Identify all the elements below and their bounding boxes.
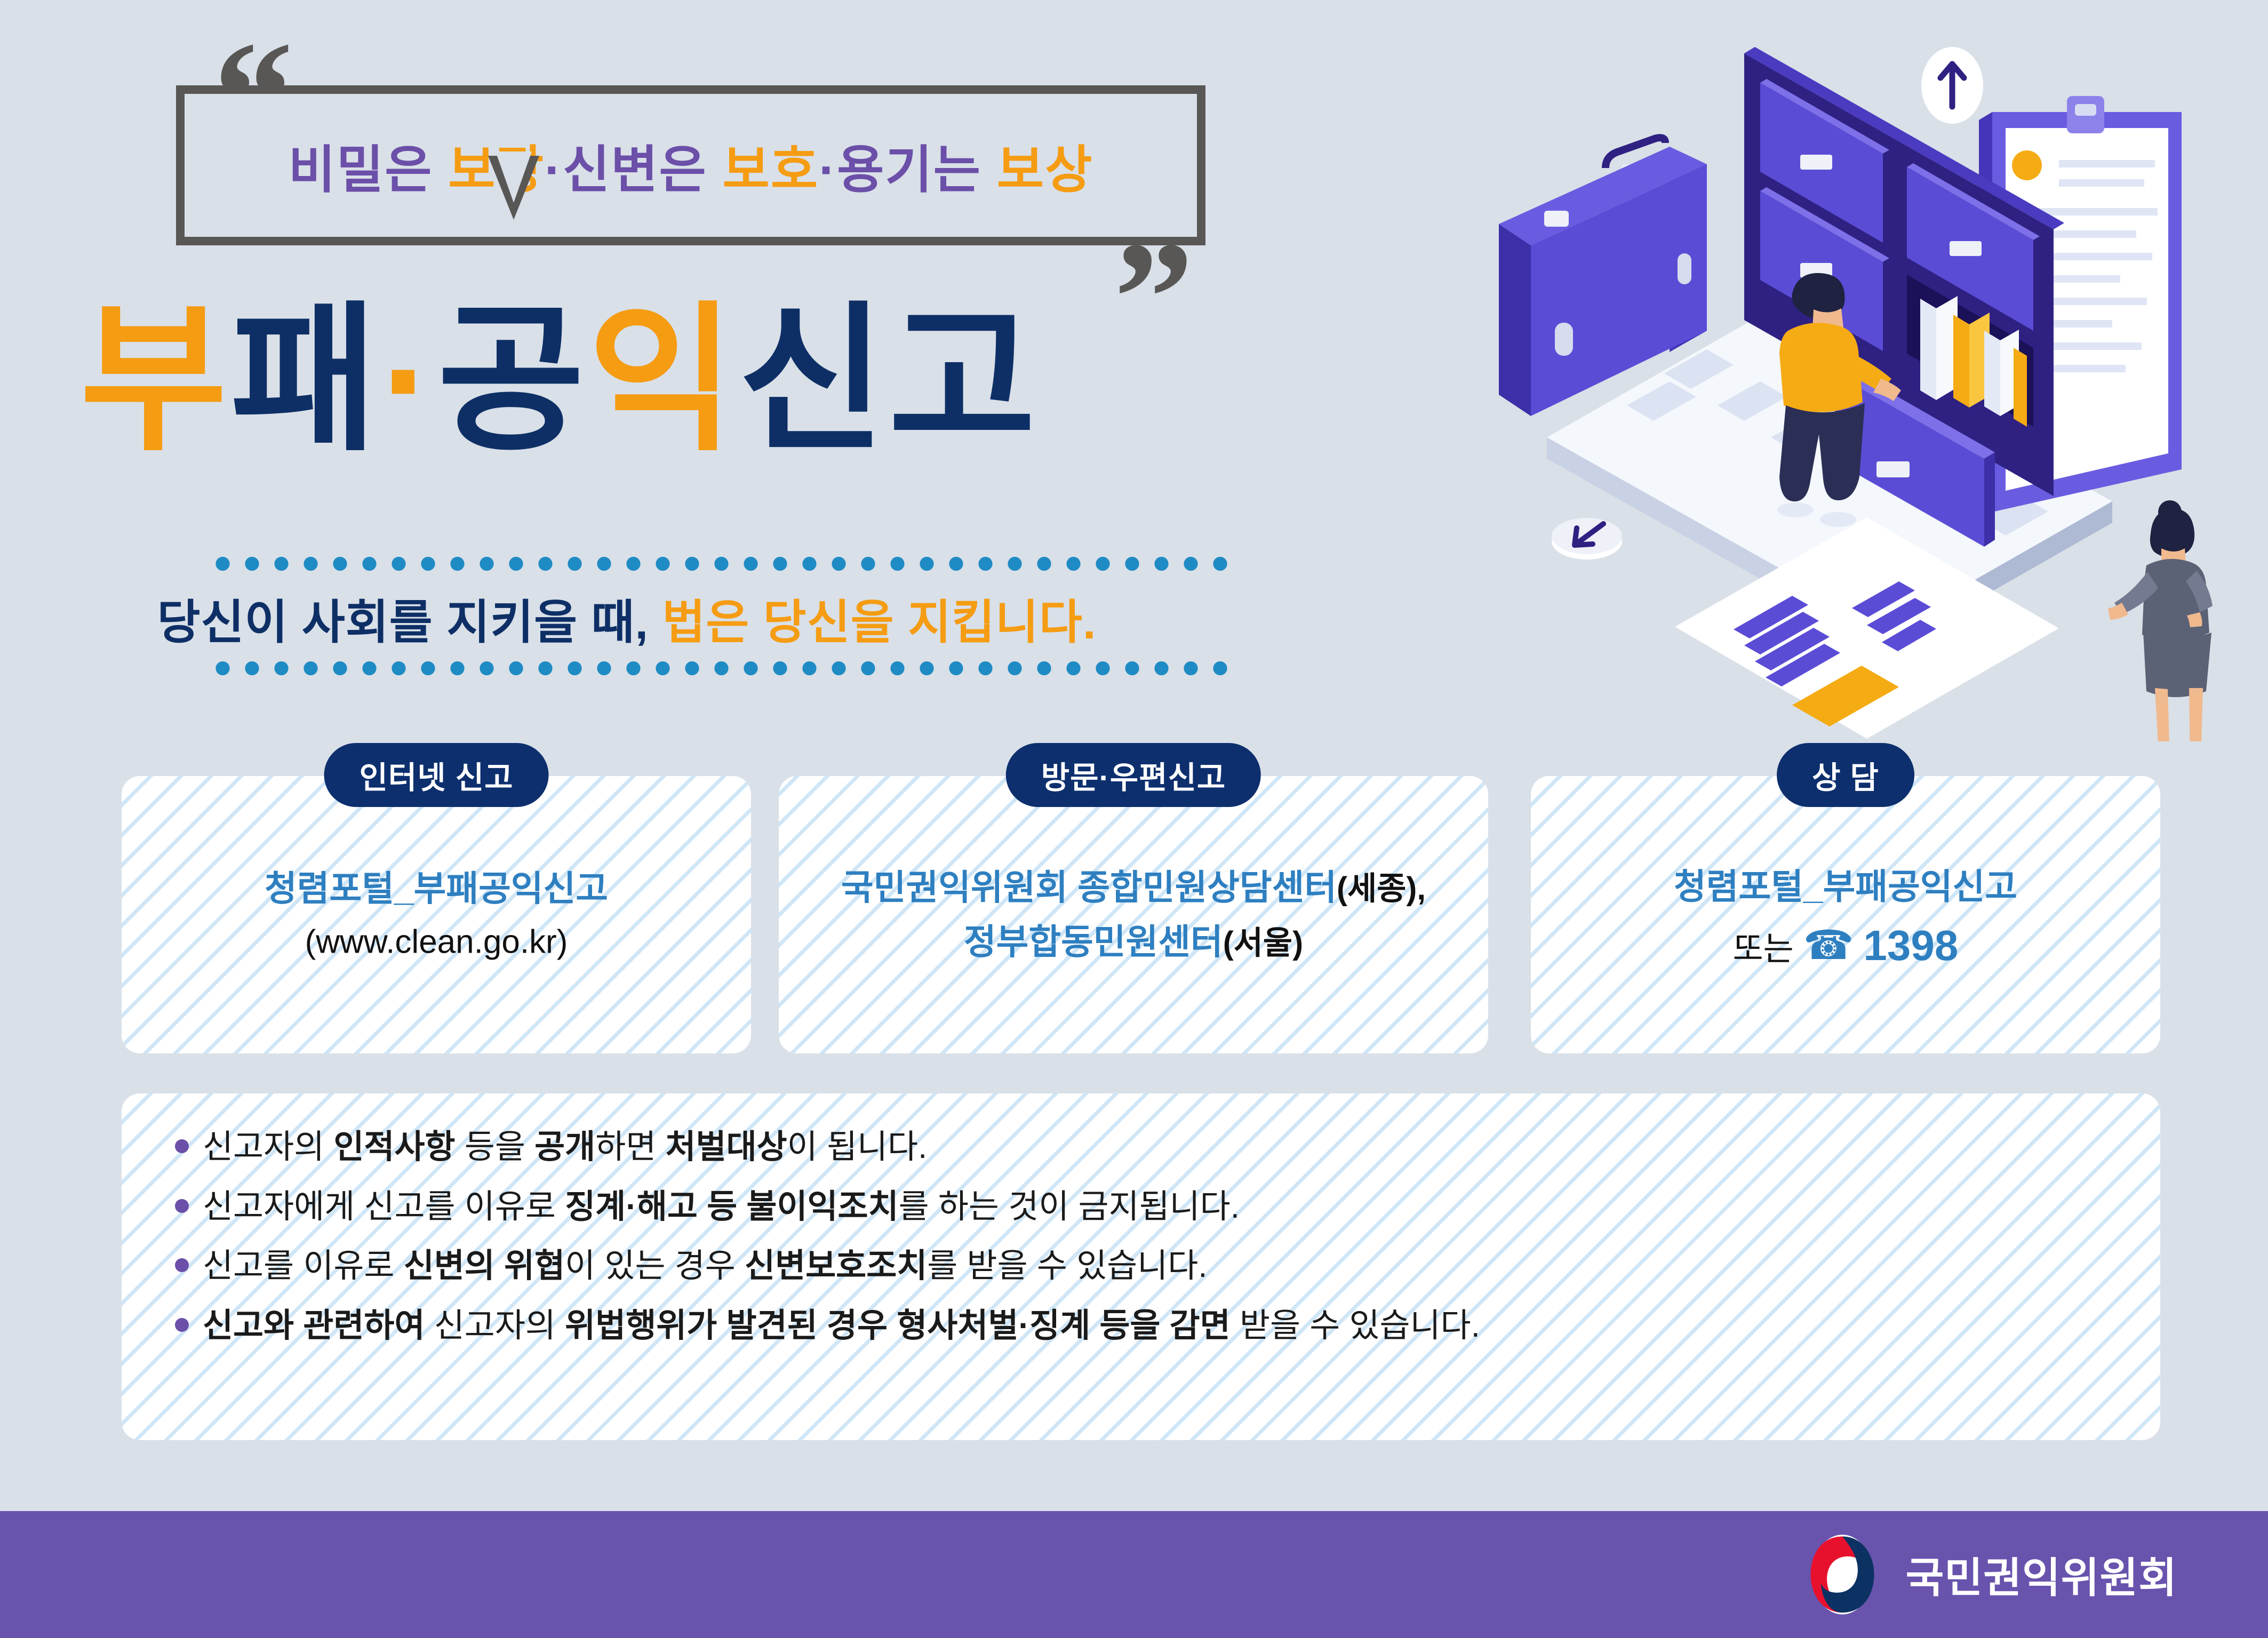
title-segment-3: 공 xyxy=(437,290,588,469)
quote-callout-box: “ ” 비밀은 보장·신변은 보호·용기는 보상 xyxy=(176,85,1205,245)
card-visit-line1-paren: (세종), xyxy=(1337,871,1426,907)
card-visit-mail-report[interactable]: 방문·우편신고 국민권익위원회 종합민원상담센터(세종), 정부합동민원센터(서… xyxy=(779,776,1488,1053)
card-consult-line1: 청렴포털_부패공익신고 xyxy=(1544,859,2147,914)
footer-bar: 국민권익위원회 xyxy=(0,1511,2268,1638)
page-subtitle: 당신이 사회를 지키을 때, 법은 당신을 지킵니다. xyxy=(0,585,1253,652)
notice-text: 신고자에게 신고를 이유로 징계·해고 등 불이익조치를 하는 것이 금지됩니다… xyxy=(203,1184,1240,1230)
card-internet-report[interactable]: 인터넷 신고 청렴포털_부패공익신고 (www.clean.go.kr) xyxy=(122,776,751,1053)
quote-segment-7: 보상 xyxy=(997,142,1093,199)
quote-slogan-text: 비밀은 보장·신변은 보호·용기는 보상 xyxy=(176,129,1205,203)
arrow-down-left-badge-icon xyxy=(1552,518,1622,560)
card-body-internet: 청렴포털_부패공익신고 (www.clean.go.kr) xyxy=(122,861,751,968)
quote-segment-2: · xyxy=(545,142,563,199)
card-consult-phone-number[interactable]: 1398 xyxy=(1863,921,1958,970)
card-consult-phone-row[interactable]: 또는 ☎ 1398 xyxy=(1544,921,2147,970)
telephone-icon: ☎ xyxy=(1803,925,1854,966)
bullet-dot-icon xyxy=(175,1258,189,1272)
card-internet-url[interactable]: (www.clean.go.kr) xyxy=(134,916,738,969)
notice-item: 신고자에게 신고를 이유로 징계·해고 등 불이익조치를 하는 것이 금지됩니다… xyxy=(175,1184,2160,1230)
arrow-up-badge-icon xyxy=(1921,47,1983,124)
quote-segment-6: 용기는 xyxy=(837,142,997,199)
footer-organization-name: 국민권익위원회 xyxy=(1906,1545,2177,1604)
subtitle-segment-1: 법은 당신을 지킵니다. xyxy=(662,596,1096,649)
dotted-rule-bottom xyxy=(208,661,1237,675)
card-pill-visit-mail: 방문·우편신고 xyxy=(1006,743,1261,807)
notice-panel: 신고자의 인적사항 등을 공개하면 처벌대상이 됩니다.신고자에게 신고를 이유… xyxy=(122,1093,2160,1440)
quote-segment-4: 보호 xyxy=(723,142,819,199)
notice-item: 신고를 이유로 신변의 위협이 있는 경우 신변보호조치를 받을 수 있습니다. xyxy=(175,1243,2160,1289)
title-segment-5: 신 xyxy=(738,290,889,469)
card-pill-consultation: 상 담 xyxy=(1777,743,1914,807)
subtitle-segment-0: 당신이 사회를 지키을 때, xyxy=(157,596,662,649)
korean-government-taegeuk-emblem xyxy=(1797,1529,1888,1620)
card-consult-prefix: 또는 xyxy=(1733,922,1794,970)
page-title: 부패·공익신고 xyxy=(80,288,1039,472)
title-segment-2: · xyxy=(381,290,437,469)
quote-close-mark: ” xyxy=(1114,218,1184,378)
title-segment-1: 패 xyxy=(230,290,381,469)
card-visit-line1-main: 국민권익위원회 종합민원상담센터 xyxy=(841,868,1337,907)
card-consultation[interactable]: 상 담 청렴포털_부패공익신고 또는 ☎ 1398 xyxy=(1531,776,2160,1053)
quote-pointer-inner xyxy=(496,151,532,203)
quote-segment-5: · xyxy=(819,142,837,199)
quote-segment-3: 신변은 xyxy=(563,142,723,199)
bullet-dot-icon xyxy=(175,1139,189,1153)
quote-frame-bottom xyxy=(176,237,1205,245)
title-segment-6: 고 xyxy=(889,290,1039,469)
notice-item: 신고와 관련하여 신고자의 위법행위가 발견된 경우 형사처벌·징계 등을 감면… xyxy=(175,1303,2160,1349)
quote-segment-0: 비밀은 xyxy=(289,142,449,199)
card-visit-line2-main: 정부합동민원센터 xyxy=(964,922,1223,962)
notice-item: 신고자의 인적사항 등을 공개하면 처벌대상이 됩니다. xyxy=(175,1124,2160,1170)
card-visit-line2: 정부합동민원센터(서울) xyxy=(792,915,1475,969)
dotted-rule-top xyxy=(208,557,1237,571)
title-segment-4: 익 xyxy=(588,290,738,469)
card-pill-internet: 인터넷 신고 xyxy=(324,743,549,807)
title-segment-0: 부 xyxy=(80,290,230,469)
isometric-filing-cabinet-illustration xyxy=(1494,32,2251,741)
card-body-visit-mail: 국민권익위원회 종합민원상담센터(세종), 정부합동민원센터(서울) xyxy=(779,860,1488,970)
card-visit-line2-paren: (서울) xyxy=(1223,925,1303,961)
footer-brand: 국민권익위원회 xyxy=(1797,1529,2177,1620)
bullet-dot-icon xyxy=(175,1199,189,1213)
notice-text: 신고를 이유로 신변의 위협이 있는 경우 신변보호조치를 받을 수 있습니다. xyxy=(203,1243,1208,1289)
notice-text: 신고와 관련하여 신고자의 위법행위가 발견된 경우 형사처벌·징계 등을 감면… xyxy=(203,1303,1480,1349)
bullet-dot-icon xyxy=(175,1318,189,1332)
card-body-consultation: 청렴포털_부패공익신고 또는 ☎ 1398 xyxy=(1531,859,2160,970)
card-visit-line1: 국민권익위원회 종합민원상담센터(세종), xyxy=(792,860,1475,915)
card-internet-line1: 청렴포털_부패공익신고 xyxy=(134,861,738,915)
person-female-figure xyxy=(2108,500,2213,741)
quote-frame-top xyxy=(176,85,1205,94)
notice-text: 신고자의 인적사항 등을 공개하면 처벌대상이 됩니다. xyxy=(203,1124,927,1170)
